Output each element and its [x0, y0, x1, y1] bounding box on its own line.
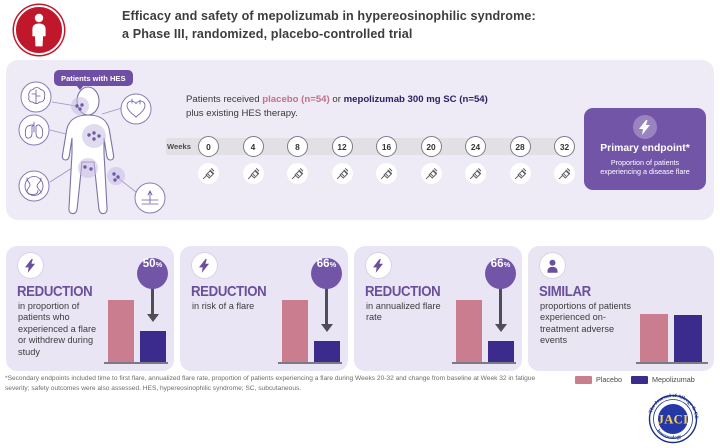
- intro-conjunction: or: [330, 94, 344, 105]
- title-line-1: Efficacy and safety of mepolizumab in hy…: [122, 8, 702, 26]
- svg-text:JACI: JACI: [658, 413, 689, 427]
- card-description: in proportion of patients who experience…: [18, 301, 104, 358]
- jaci-journal-logo: The Journal of Allergy & Clinical Immuno…: [646, 392, 700, 444]
- timeline-week-24: 24: [465, 136, 486, 157]
- intro-prefix: Patients received: [186, 94, 262, 105]
- syringe-icon: [243, 163, 264, 184]
- reduction-arrow-head: [495, 324, 507, 332]
- timeline-week-4: 4: [243, 136, 264, 157]
- card-description: in annualized flare rate: [366, 301, 452, 324]
- card-kicker: SIMILAR: [539, 284, 591, 299]
- card-description: proportions of patients experienced on-t…: [540, 301, 636, 347]
- study-design-panel: Patients with HES: [6, 60, 714, 220]
- bar-placebo: [640, 314, 668, 362]
- title-line-2: a Phase III, randomized, placebo-control…: [122, 26, 702, 44]
- timeline-track: [166, 138, 566, 155]
- study-intro-text: Patients received placebo (n=54) or mepo…: [186, 93, 566, 121]
- intestines-icon: [19, 171, 49, 201]
- card-kicker: REDUCTION: [191, 284, 266, 299]
- chart-baseline: [452, 362, 516, 365]
- reduction-arrow-head: [147, 314, 159, 322]
- footnote-line-1: *Secondary endpoints included time to fi…: [5, 375, 479, 382]
- patients-with-hes-label: Patients with HES: [54, 70, 133, 86]
- lightning-bolt-icon: [192, 253, 217, 278]
- card-chart: 50%: [104, 284, 168, 364]
- card-chart: 66%: [278, 284, 342, 364]
- infographic-root: Efficacy and safety of mepolizumab in hy…: [0, 0, 720, 448]
- badge-value: 66: [491, 258, 504, 270]
- person-in-circle-icon: [14, 5, 64, 55]
- syringe-icon: [554, 163, 575, 184]
- timeline-week-32: 32: [554, 136, 575, 157]
- badge-unit: %: [330, 260, 337, 269]
- intro-placebo-arm: placebo (n=54): [262, 94, 329, 105]
- legend-swatch-mepolizumab: [631, 376, 648, 384]
- syringe-icon: [465, 163, 486, 184]
- weeks-label: Weeks: [167, 142, 191, 151]
- syringe-icon: [287, 163, 308, 184]
- legend-label-mepolizumab: Mepolizumab: [652, 375, 695, 384]
- bar-placebo: [108, 300, 134, 362]
- timeline-week-8: 8: [287, 136, 308, 157]
- chart-baseline: [104, 362, 168, 365]
- bar-mepolizumab: [140, 331, 166, 362]
- badge-value: 66: [317, 258, 330, 270]
- syringe-icon: [421, 163, 442, 184]
- badge-unit: %: [504, 260, 511, 269]
- status-badge: 66%: [311, 258, 342, 289]
- chart-legend: Placebo Mepolizumab: [575, 375, 695, 384]
- header: Efficacy and safety of mepolizumab in hy…: [0, 0, 720, 58]
- card-chart: [636, 284, 708, 364]
- bar-mepolizumab: [674, 315, 702, 362]
- card-kicker: REDUCTION: [17, 284, 92, 299]
- syringe-icon: [332, 163, 353, 184]
- status-badge: 50%: [137, 258, 168, 289]
- result-card-adverse-events: SIMILAR proportions of patients experien…: [528, 246, 714, 371]
- bar-placebo: [282, 300, 308, 362]
- result-card-annualized-flare-rate: REDUCTION in annualized flare rate 66%: [354, 246, 522, 371]
- legend-swatch-placebo: [575, 376, 592, 384]
- person-icon: [540, 253, 565, 278]
- chart-baseline: [278, 362, 342, 365]
- legend-label-placebo: Placebo: [596, 375, 622, 384]
- intro-mepolizumab-arm: mepolizumab 300 mg SC (n=54): [344, 94, 488, 105]
- bar-mepolizumab: [314, 341, 340, 362]
- lightning-bolt-icon: [366, 253, 391, 278]
- syringe-icon: [198, 163, 219, 184]
- intro-suffix: plus existing HES therapy.: [186, 108, 298, 119]
- timeline-week-28: 28: [510, 136, 531, 157]
- page-title: Efficacy and safety of mepolizumab in hy…: [122, 8, 702, 43]
- bar-mepolizumab: [488, 341, 514, 362]
- primary-endpoint-title: Primary endpoint*: [584, 143, 706, 155]
- lightning-bolt-icon: [18, 253, 43, 278]
- timeline-week-0: 0: [198, 136, 219, 157]
- badge-value: 50: [143, 258, 156, 270]
- result-card-risk-of-flare: REDUCTION in risk of a flare 66%: [180, 246, 348, 371]
- primary-endpoint-card: Primary endpoint* Proportion of patients…: [584, 108, 706, 190]
- footnote: *Secondary endpoints included time to fi…: [5, 374, 561, 393]
- reduction-arrow-head: [321, 324, 333, 332]
- bar-placebo: [456, 300, 482, 362]
- badge-unit: %: [156, 260, 163, 269]
- timeline-week-16: 16: [376, 136, 397, 157]
- syringe-icon: [510, 163, 531, 184]
- syringe-icon: [376, 163, 397, 184]
- legend-item-placebo: Placebo: [575, 375, 622, 384]
- timeline-week-20: 20: [421, 136, 442, 157]
- chart-baseline: [636, 362, 708, 365]
- status-badge: 66%: [485, 258, 516, 289]
- card-kicker: REDUCTION: [365, 284, 440, 299]
- result-card-flare-or-withdrew: REDUCTION in proportion of patients who …: [6, 246, 174, 371]
- legend-item-mepolizumab: Mepolizumab: [631, 375, 695, 384]
- card-chart: 66%: [452, 284, 516, 364]
- lightning-bolt-icon: [633, 115, 657, 139]
- timeline-week-12: 12: [332, 136, 353, 157]
- heart-icon: [121, 94, 151, 124]
- patient-body-illustration: Patients with HES: [10, 64, 170, 216]
- card-description: in risk of a flare: [192, 301, 278, 312]
- primary-endpoint-subtitle: Proportion of patients experiencing a di…: [584, 158, 706, 177]
